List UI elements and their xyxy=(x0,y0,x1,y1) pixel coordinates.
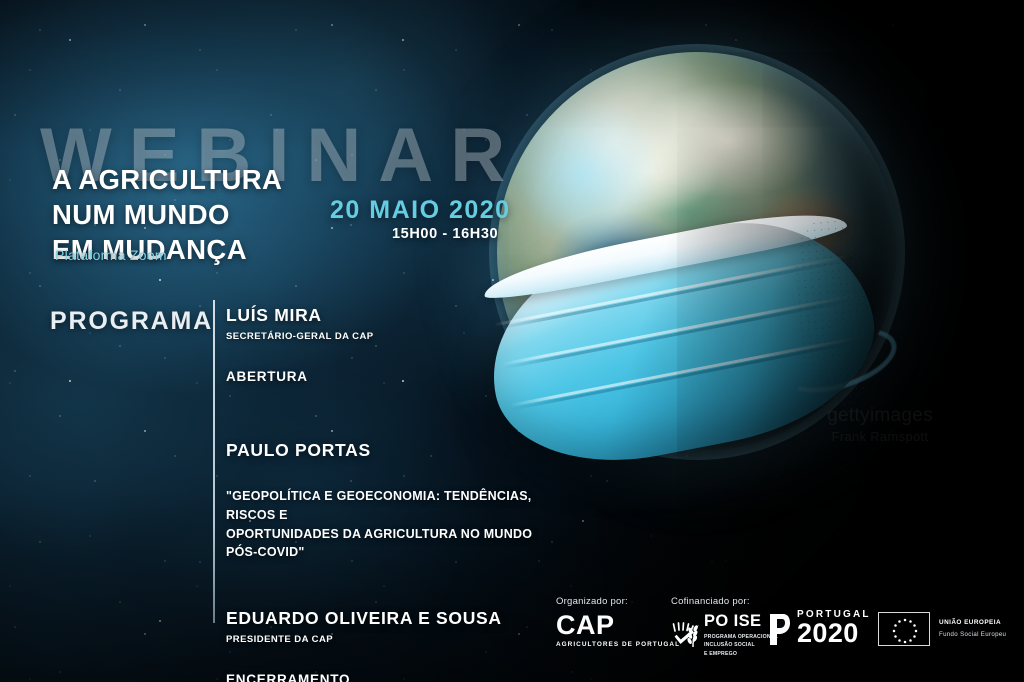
session-topic-line-2: OPORTUNIDADES DA AGRICULTURA NO MUNDO PÓ… xyxy=(226,525,556,563)
webinar-poster: gettyimages Frank Ramspott WEBINAR A AGR… xyxy=(0,0,1024,682)
eu-line-1: UNIÃO EUROPEIA xyxy=(939,619,1006,628)
speaker-role: PRESIDENTE DA CAP xyxy=(226,634,556,645)
spacer xyxy=(226,342,556,369)
agenda-list: LUÍS MIRA SECRETÁRIO-GERAL DA CAP ABERTU… xyxy=(226,305,556,682)
cofinance-group: Cofinanciado por: PO ISE PROGRAMA O xyxy=(671,596,778,658)
agenda-item-1: LUÍS MIRA SECRETÁRIO-GERAL DA CAP ABERTU… xyxy=(226,305,556,384)
page-title-line-1: A AGRICULTURA xyxy=(52,162,282,197)
po-ise-text: PO ISE PROGRAMA OPERACIONAL INCLUSÃO SOC… xyxy=(704,613,778,658)
hand-check-icon xyxy=(671,622,697,649)
speaker-name: LUÍS MIRA xyxy=(226,305,556,326)
watermark-line-1: gettyimages xyxy=(827,405,933,426)
speaker-name: PAULO PORTAS xyxy=(226,440,556,461)
speaker-name: EDUARDO OLIVEIRA E SOUSA xyxy=(226,608,556,629)
earth-with-face-mask-illustration: gettyimages Frank Ramspott xyxy=(497,52,927,522)
platform-label: Plataforma Zoom xyxy=(55,247,167,263)
eu-line-2: Fundo Social Europeu xyxy=(939,631,1006,639)
spacer xyxy=(226,562,556,608)
stock-photo-watermark: gettyimages Frank Ramspott xyxy=(810,404,950,445)
po-ise-wordmark: PO ISE xyxy=(704,613,778,630)
page-title-line-2: NUM MUNDO xyxy=(52,197,282,232)
session-label: ABERTURA xyxy=(226,369,556,384)
cap-tagline: AGRICULTORES DE PORTUGAL xyxy=(556,641,680,648)
vertical-divider xyxy=(213,300,215,623)
agenda-item-3: EDUARDO OLIVEIRA E SOUSA PRESIDENTE DA C… xyxy=(226,608,556,682)
european-union-logo: UNIÃO EUROPEIA Fundo Social Europeu xyxy=(878,612,1006,646)
speaker-role: SECRETÁRIO-GERAL DA CAP xyxy=(226,331,556,342)
agenda-item-2: PAULO PORTAS "GEOPOLÍTICA E GEOECONOMIA:… xyxy=(226,440,556,562)
footer-logos: Organizado por: CAP AGRICULTORES DE PORT… xyxy=(556,596,1006,662)
po-ise-logo: PO ISE PROGRAMA OPERACIONAL INCLUSÃO SOC… xyxy=(671,613,778,658)
spacer xyxy=(226,461,556,487)
programme-heading: PROGRAMA xyxy=(50,307,213,336)
event-time: 15H00 - 16H30 xyxy=(392,226,498,242)
cofinance-label: Cofinanciado por: xyxy=(671,596,778,607)
po-ise-subtitle: PROGRAMA OPERACIONAL INCLUSÃO SOCIAL E E… xyxy=(704,633,778,659)
portugal-2020-text: PORTUGAL 2020 xyxy=(797,610,871,647)
portugal-2020-mark-icon xyxy=(768,612,791,645)
po-ise-subtitle-line-3: E EMPREGO xyxy=(704,650,778,659)
spacer xyxy=(226,645,556,672)
eu-text: UNIÃO EUROPEIA Fundo Social Europeu xyxy=(939,619,1006,639)
spacer xyxy=(226,384,556,440)
po-ise-subtitle-line-2: INCLUSÃO SOCIAL xyxy=(704,641,778,650)
eu-flag-icon xyxy=(878,612,930,646)
watermark-line-2: Frank Ramspott xyxy=(810,429,950,445)
po-ise-subtitle-line-1: PROGRAMA OPERACIONAL xyxy=(704,633,778,642)
session-label: ENCERRAMENTO xyxy=(226,672,556,682)
event-date: 20 MAIO 2020 xyxy=(330,196,511,225)
session-topic: "GEOPOLÍTICA E GEOECONOMIA: TENDÊNCIAS, … xyxy=(226,487,556,562)
portugal-year: 2020 xyxy=(797,621,871,647)
session-topic-line-1: "GEOPOLÍTICA E GEOECONOMIA: TENDÊNCIAS, … xyxy=(226,487,556,525)
eu-stars-circle xyxy=(879,613,931,647)
cap-wordmark: CAP xyxy=(556,613,680,637)
portugal-2020-logo: PORTUGAL 2020 xyxy=(768,610,871,647)
